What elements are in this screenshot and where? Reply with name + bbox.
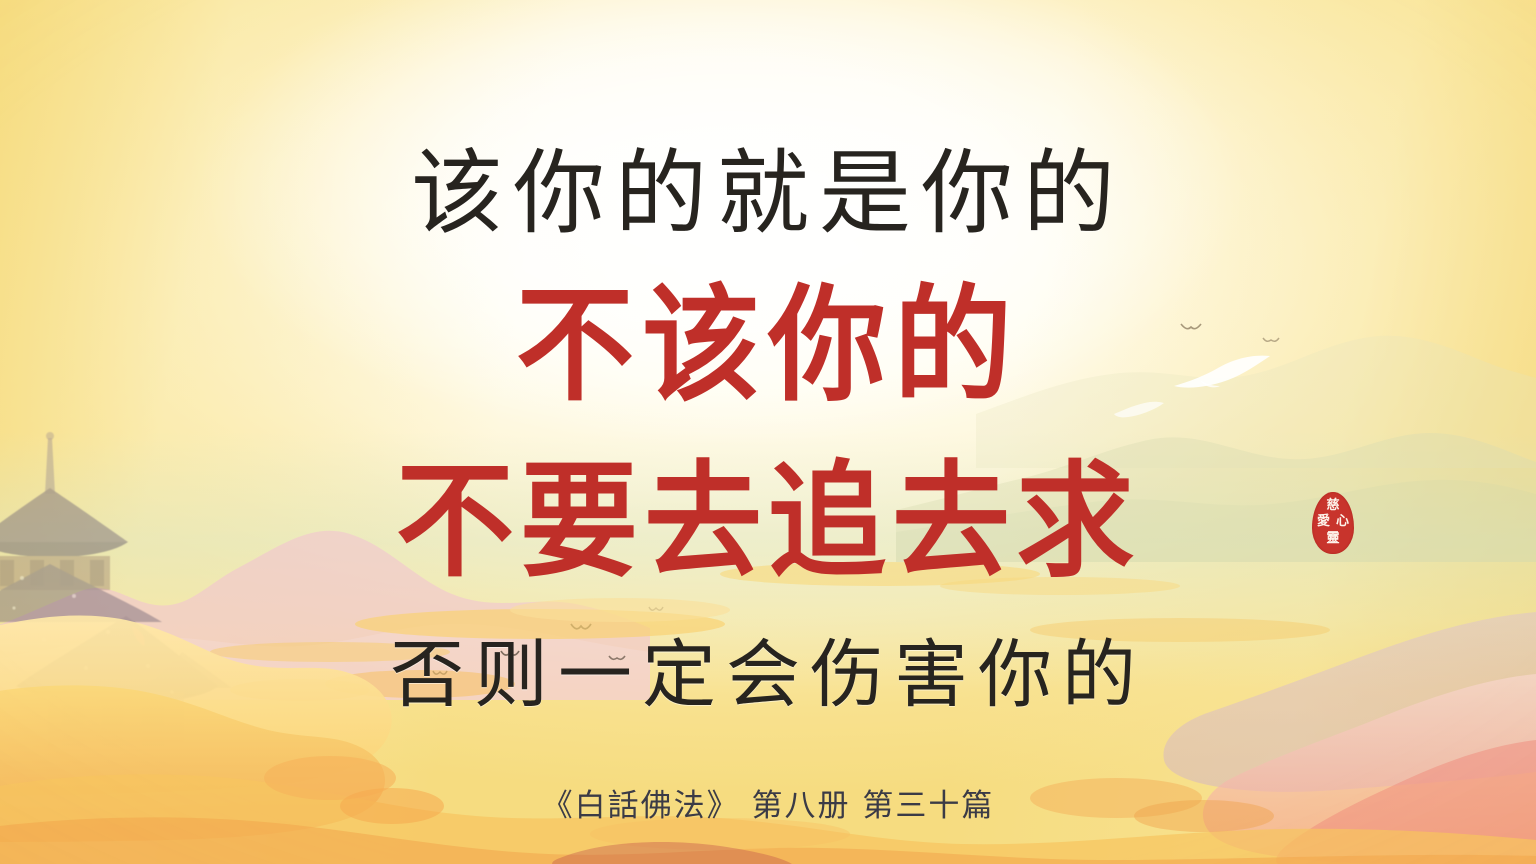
seal-char-left: 愛 xyxy=(1316,515,1331,528)
seal-char-right: 心 xyxy=(1335,515,1350,528)
source-citation: 《白話佛法》 第八册 第三十篇 xyxy=(0,780,1536,825)
poem-line-2-emphasis: 不该你的 xyxy=(0,282,1536,407)
seal-char-bottom: 靈 xyxy=(1326,532,1341,545)
poem-line-1: 该你的就是你的 xyxy=(0,148,1536,240)
poem-text-block: 该你的就是你的 不该你的 不要去追去求 否则一定会伤害你的 《白話佛法》 第八册… xyxy=(0,0,1536,864)
poster-canvas: 该你的就是你的 不该你的 不要去追去求 否则一定会伤害你的 《白話佛法》 第八册… xyxy=(0,0,1536,864)
poem-line-3-emphasis: 不要去追去求 xyxy=(0,458,1536,583)
seal-char-top: 慈 xyxy=(1326,499,1341,512)
red-seal-stamp: 慈 愛 心 靈 xyxy=(1312,492,1354,554)
poem-line-4: 否则一定会伤害你的 xyxy=(0,638,1536,712)
